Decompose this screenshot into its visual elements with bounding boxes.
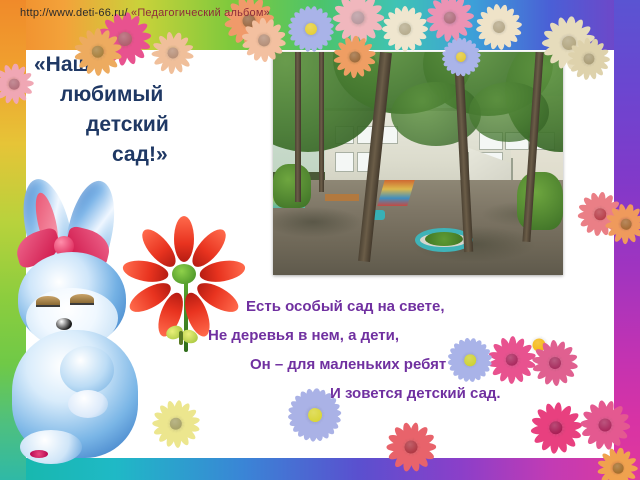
daisy-top-11-icon <box>331 33 379 81</box>
flower-center <box>172 264 196 284</box>
kindergarten-yard-photo <box>273 52 563 275</box>
title-line-4: сад!» <box>34 140 264 170</box>
bunny-nose <box>56 318 72 330</box>
daisy-center <box>399 23 411 35</box>
photo-bench <box>325 194 359 201</box>
photo-tree-trunk <box>319 52 324 192</box>
bunny-eye-left <box>36 296 60 307</box>
daisy-center <box>612 462 624 474</box>
flower-petal <box>174 216 194 262</box>
daisy-left-1-icon <box>0 60 38 108</box>
daisy-bot-8-icon <box>442 332 498 388</box>
butterfly-icon <box>166 326 200 348</box>
album-title-text: «Педагогический альбом» <box>131 7 270 19</box>
bunny-arm <box>60 346 114 394</box>
title-line-2: любимый <box>34 80 264 110</box>
daisy-bot-1-icon <box>147 395 206 454</box>
daisy-center <box>8 78 19 89</box>
source-url-label: http://www.deti-66.ru/ «Педагогический а… <box>20 7 270 20</box>
photo-shrub <box>273 164 311 208</box>
bunny-paw <box>68 390 108 418</box>
daisy-bot-3-icon <box>379 415 443 479</box>
daisy-top-3-icon <box>72 26 124 78</box>
photo-tree-canopy <box>391 82 481 146</box>
title-line-3: детский <box>34 110 264 140</box>
bunny-foot <box>20 430 82 464</box>
daisy-bot-2-icon <box>284 384 346 446</box>
photo-tire-plants <box>425 232 463 246</box>
photo-window <box>335 152 354 172</box>
daisy-corner-br-icon <box>593 443 640 480</box>
bunny-eye-right <box>70 294 94 305</box>
presentation-slide: http://www.deti-66.ru/ «Педагогический а… <box>0 0 640 480</box>
butterfly-body <box>179 331 183 345</box>
photo-tree-trunk <box>295 52 301 202</box>
daisy-top-12-icon <box>436 32 485 81</box>
bunny-toe-pads <box>30 450 48 458</box>
source-url-text: http://www.deti-66.ru/ <box>20 7 128 19</box>
